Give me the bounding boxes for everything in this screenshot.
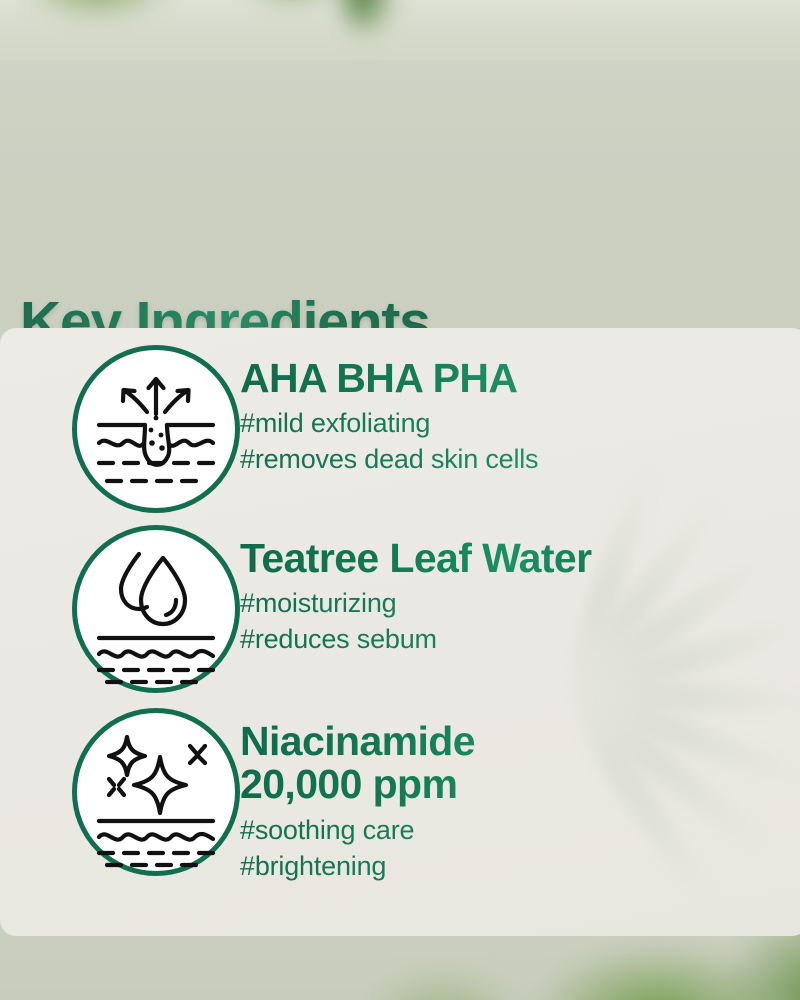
key-ingredients-infographic: Key Ingredients	[0, 0, 800, 1000]
ingredient-icon-wrap	[0, 345, 240, 513]
ingredient-name-line: 20,000 ppm	[240, 761, 457, 807]
ingredient-name: Teatree Leaf Water	[240, 537, 800, 580]
ingredient-text: Teatree Leaf Water #moisturizing #reduce…	[240, 525, 800, 658]
ingredient-row: AHA BHA PHA #mild exfoliating #removes d…	[0, 345, 800, 513]
header-band: Key Ingredients	[0, 60, 800, 328]
ingredient-tags: #mild exfoliating #removes dead skin cel…	[240, 406, 800, 477]
ingredient-tag: #reduces sebum	[240, 622, 800, 658]
ingredient-tags: #moisturizing #reduces sebum	[240, 586, 800, 657]
ingredient-name-line: Niacinamide	[240, 718, 475, 764]
ingredient-tag: #brightening	[240, 849, 800, 885]
ingredient-row: Teatree Leaf Water #moisturizing #reduce…	[0, 525, 800, 693]
ingredient-tags: #soothing care #brightening	[240, 813, 800, 884]
ingredient-text: AHA BHA PHA #mild exfoliating #removes d…	[240, 345, 800, 478]
sparkles-icon	[72, 708, 240, 876]
water-droplets-icon	[72, 525, 240, 693]
ingredient-name: Niacinamide 20,000 ppm	[240, 720, 800, 807]
ingredient-tag: #removes dead skin cells	[240, 442, 800, 478]
ingredient-name: AHA BHA PHA	[240, 357, 800, 400]
ingredient-tag: #moisturizing	[240, 586, 800, 622]
ingredient-icon-wrap	[0, 525, 240, 693]
ingredients-card: AHA BHA PHA #mild exfoliating #removes d…	[0, 328, 800, 936]
ingredient-icon-wrap	[0, 708, 240, 876]
ingredient-tag: #mild exfoliating	[240, 406, 800, 442]
ingredient-row: Niacinamide 20,000 ppm #soothing care #b…	[0, 708, 800, 884]
ingredient-tag: #soothing care	[240, 813, 800, 849]
ingredient-text: Niacinamide 20,000 ppm #soothing care #b…	[240, 708, 800, 884]
exfoliating-pore-arrows-icon	[72, 345, 240, 513]
